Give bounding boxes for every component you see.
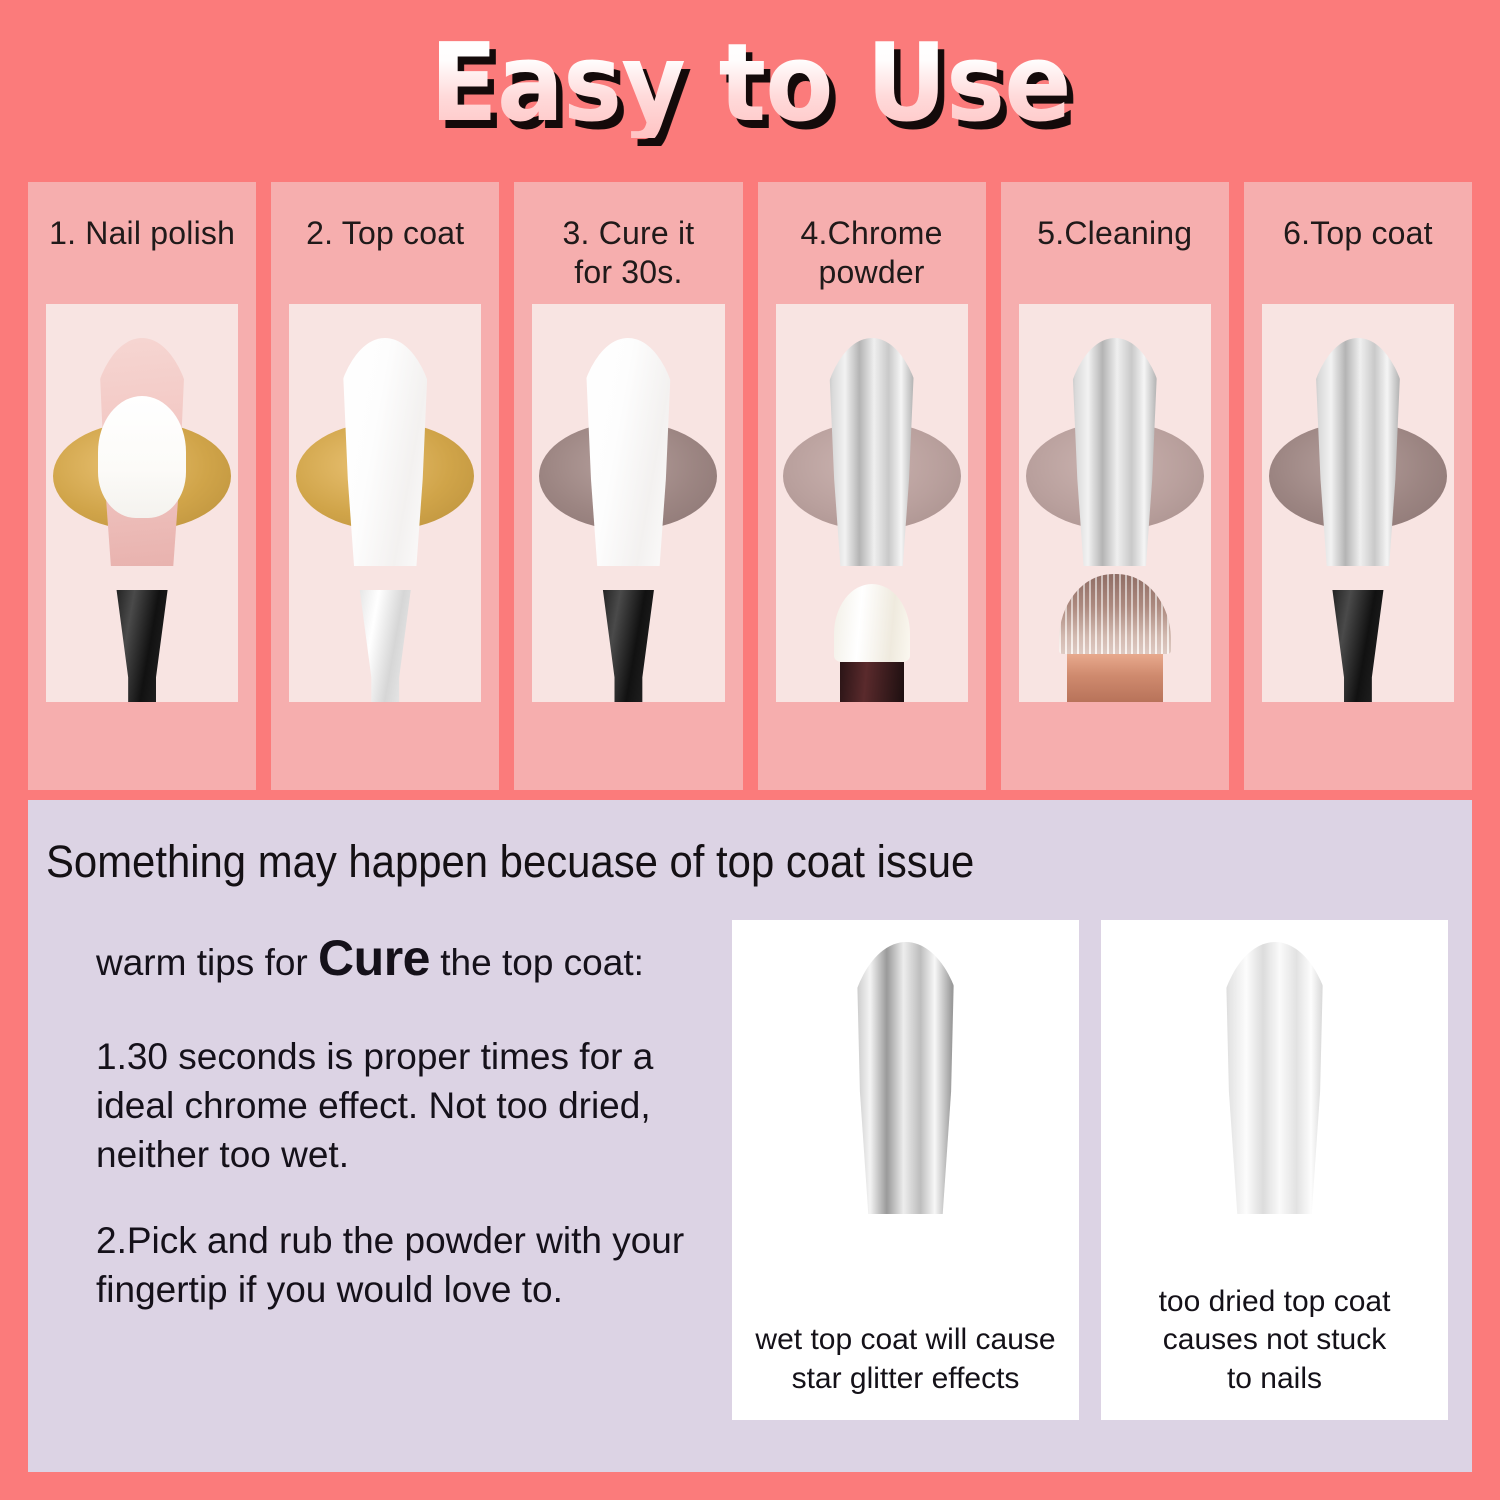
step-label-4: 4.Chrome powder (795, 214, 949, 292)
step-card-2: 2. Top coat (271, 182, 499, 790)
black-polish-bottle-icon (113, 590, 171, 702)
step-label-6: 6.Top coat (1277, 214, 1439, 253)
black-polish-bottle-icon (599, 590, 657, 702)
step-card-3: 3. Cure it for 30s. (514, 182, 742, 790)
nail-tip-icon (1063, 338, 1167, 566)
white-bottle-icon (356, 590, 414, 702)
comparison-column: wet top coat will cause star glitter eff… (728, 908, 1472, 1472)
step-label-5: 5.Cleaning (1031, 214, 1198, 253)
tips-column: warm tips for Cure the top coat: 1.30 se… (28, 908, 728, 1472)
comparison-caption-wet: wet top coat will cause star glitter eff… (741, 1321, 1069, 1398)
nail-tip-icon (820, 338, 924, 566)
tip-item-1: 1.30 seconds is proper times for a ideal… (96, 1033, 721, 1179)
step-photo-4 (776, 304, 968, 702)
brush-ferrule (1067, 654, 1163, 702)
step-photo-6 (1262, 304, 1454, 702)
chrome-nail-icon (846, 942, 966, 1214)
white-polish-smear (98, 396, 186, 518)
nail-tip-icon (333, 338, 437, 566)
tips-lead: warm tips for Cure the top coat: (96, 926, 728, 991)
panel-heading: Something may happen becuase of top coat… (46, 836, 1372, 888)
sponge-head (834, 584, 910, 662)
tips-lead-after: the top coat: (430, 942, 644, 983)
step-card-5: 5.Cleaning (1001, 182, 1229, 790)
step-photo-3 (532, 304, 724, 702)
black-polish-bottle-icon (1329, 590, 1387, 702)
infographic-page: Easy to Use 1. Nail polish 2. Top coat 3… (0, 0, 1500, 1500)
chrome-nail-icon (1215, 942, 1335, 1214)
step-label-3: 3. Cure it for 30s. (557, 214, 701, 292)
step-label-2: 2. Top coat (300, 214, 470, 253)
step-card-6: 6.Top coat (1244, 182, 1472, 790)
comparison-card-wet: wet top coat will cause star glitter eff… (732, 920, 1079, 1420)
tips-lead-emphasis: Cure (318, 930, 430, 986)
page-title: Easy to Use (430, 30, 1071, 138)
brush-bristles (1059, 574, 1171, 654)
tip-item-2: 2.Pick and rub the powder with your fing… (96, 1217, 721, 1315)
panel-body: warm tips for Cure the top coat: 1.30 se… (28, 908, 1472, 1472)
brush-icon (1059, 574, 1171, 702)
nail-tip-icon (576, 338, 680, 566)
step-photo-5 (1019, 304, 1211, 702)
steps-strip: 1. Nail polish 2. Top coat 3. Cure it fo… (28, 182, 1472, 790)
sponge-stick (840, 662, 904, 702)
nail-tip-icon (1306, 338, 1410, 566)
tips-lead-before: warm tips for (96, 942, 318, 983)
step-card-1: 1. Nail polish (28, 182, 256, 790)
sponge-applicator-icon (834, 584, 910, 702)
step-card-4: 4.Chrome powder (758, 182, 986, 790)
step-label-1: 1. Nail polish (43, 214, 241, 253)
comparison-card-dried: too dried top coat causes not stuck to n… (1101, 920, 1448, 1420)
top-coat-issue-panel: Something may happen becuase of top coat… (28, 800, 1472, 1472)
title-banner: Easy to Use (0, 24, 1500, 144)
step-photo-2 (289, 304, 481, 702)
comparison-caption-dried: too dried top coat causes not stuck to n… (1145, 1283, 1405, 1398)
step-photo-1 (46, 304, 238, 702)
